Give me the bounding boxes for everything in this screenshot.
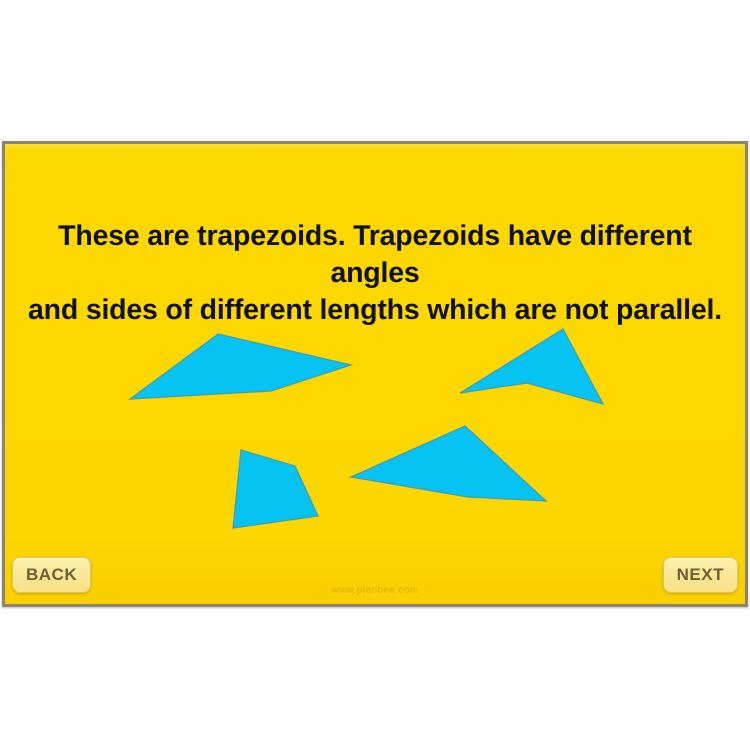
planbee-watermark: www.planbee.com — [5, 585, 745, 596]
next-button-label: NEXT — [677, 565, 724, 585]
next-button[interactable]: NEXT — [663, 557, 738, 593]
small-trapezoid-bottom-left — [233, 450, 318, 528]
large-trapezoid-left — [130, 334, 351, 399]
back-button[interactable]: BACK — [12, 557, 91, 593]
slide-frame: These are trapezoids. Trapezoids have di… — [2, 141, 748, 607]
dart-trapezoid-right — [460, 329, 603, 404]
slide-stage: These are trapezoids. Trapezoids have di… — [5, 144, 745, 604]
shapes-layer — [5, 144, 745, 604]
back-button-label: BACK — [26, 565, 77, 585]
wide-trapezoid-bottom-right — [351, 426, 546, 501]
page-canvas: These are trapezoids. Trapezoids have di… — [0, 0, 750, 750]
